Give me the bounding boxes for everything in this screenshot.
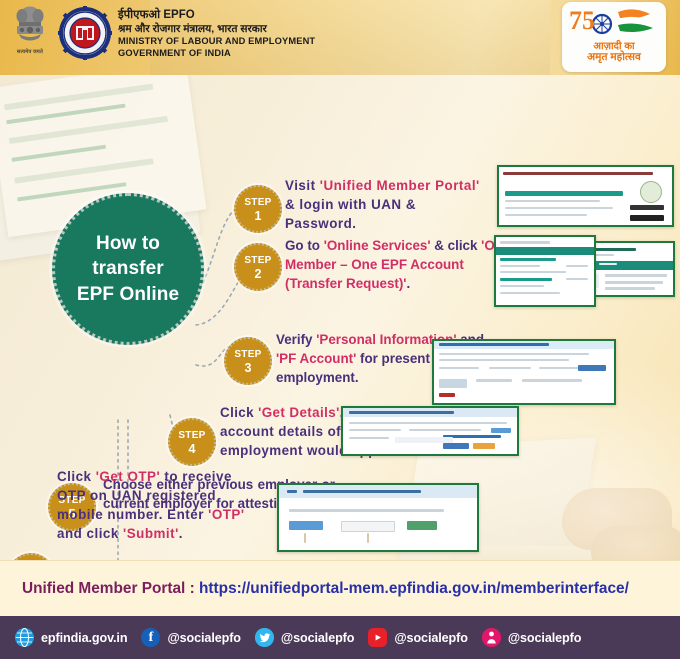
emblem-caption: सत्यमेव जयते [8,49,52,55]
poster-header: सत्यमेव जयते [0,0,680,75]
twitter-icon [255,628,274,647]
footer-label-website: epfindia.gov.in [41,631,127,645]
step-6-part-0: Click [57,469,96,484]
step-1-badge-label: STEP [236,198,280,208]
ministry-hindi: श्रम और रोजगार मंत्रालय, भारत सरकार [118,23,315,36]
step-1-screenshot-thumbnail [497,165,674,227]
step-2-part-4: . [407,276,411,291]
step-6-screenshot-thumbnail [277,483,479,552]
footer-item-koo[interactable]: @socialepfo [482,628,581,647]
step-1-part-0: Visit [285,178,320,193]
portal-url-text: Unified Member Portal : https://unifiedp… [22,580,629,598]
footer-label-twitter: @socialepfo [281,631,354,645]
step-1-part-1: 'Unified Member Portal' [320,178,480,193]
hub-line-2: transfer [92,258,164,279]
step-6-part-1: 'Get OTP' [96,469,160,484]
step-2-text: Go to 'Online Services' & click 'One Mem… [285,236,517,293]
koo-icon [482,628,501,647]
step-6-part-5: 'Submit' [123,526,179,541]
step-3-screenshot-thumbnail [494,235,596,307]
org-name-abbr: EPFO [163,9,194,21]
azadi-ka-amrit-mahotsav-logo: 75 आज़ादी का अमृत महोत्सव [562,2,666,72]
footer-label-koo: @socialepfo [508,631,581,645]
step-4-part-1: 'Get Details' [258,405,340,420]
step-2-part-2: & click [431,238,482,253]
step-2-part-0: Go to [285,238,324,253]
step-2-badge[interactable]: STEP 2 [234,243,282,291]
footer-item-youtube[interactable]: @socialepfo [368,628,467,647]
center-hub-circle: How to transfer EPF Online [52,193,204,345]
amrit-75-number: 75 [569,6,595,36]
step-1-text: Visit 'Unified Member Portal' & login wi… [285,176,485,233]
portal-url-link[interactable]: https://unifiedportal-mem.epfindia.gov.i… [199,580,629,597]
step-6-part-4: and click [57,526,123,541]
org-name-line: ईपीएफओ EPFO [118,8,315,23]
government-of-india: GOVERNMENT OF INDIA [118,48,315,60]
hub-line-1: How to [96,233,160,254]
youtube-icon [368,628,387,647]
step-2-number: 2 [236,268,280,281]
step-6-part-3: 'OTP' [208,507,244,522]
amrit-line-2: अमृत महोत्सव [562,50,666,64]
poster-body: How to transfer EPF Online STEP 1 Visit … [0,75,680,560]
step-2-badge-label: STEP [236,256,280,266]
step-3-badge[interactable]: STEP 3 [224,337,272,385]
step-1-badge[interactable]: STEP 1 [234,185,282,233]
step-4-screenshot-thumbnail [432,339,616,405]
footer-label-facebook: @socialepfo [167,631,240,645]
epfo-logo-icon [58,6,112,60]
infographic-poster: सत्यमेव जयते [0,0,680,659]
social-footer: epfindia.gov.in f @socialepfo @socialepf… [0,616,680,659]
step-1-part-2: & login with UAN & Password. [285,197,416,231]
footer-item-facebook[interactable]: f @socialepfo [141,628,240,647]
step-1-number: 1 [236,210,280,223]
step-3-part-3: 'PF Account' [276,351,356,366]
footer-item-twitter[interactable]: @socialepfo [255,628,354,647]
step-4-badge[interactable]: STEP 4 [168,418,216,466]
portal-url-bar: Unified Member Portal : https://unifiedp… [0,560,680,617]
footer-label-youtube: @socialepfo [394,631,467,645]
hub-line-3: EPF Online [77,284,179,305]
ashoka-lion-capital-icon [13,4,47,48]
facebook-icon: f [141,628,160,647]
globe-icon [15,628,34,647]
step-2-part-1: 'Online Services' [324,238,431,253]
step-6-badge[interactable]: STEP 6 [7,553,55,560]
step-6-text: Click 'Get OTP' to receive OTP on UAN re… [57,467,262,543]
national-emblem: सत्यमेव जयते [8,4,52,70]
footer-item-website[interactable]: epfindia.gov.in [15,628,127,647]
header-text-block: ईपीएफओ EPFO श्रम और रोजगार मंत्रालय, भार… [118,8,315,60]
step-6-part-6: . [179,526,183,541]
org-name-hindi: ईपीएफओ [118,9,160,21]
step-3-part-0: Verify [276,332,316,347]
portal-url-label: Unified Member Portal : [22,580,199,597]
step-4-number: 4 [170,443,214,456]
ministry-english: MINISTRY OF LABOUR AND EMPLOYMENT [118,36,315,48]
step-3-number: 3 [226,362,270,375]
hub-title: How to transfer EPF Online [77,231,179,306]
step-3-badge-label: STEP [226,350,270,360]
step-5-screenshot-thumbnail [341,406,519,456]
step-4-badge-label: STEP [170,431,214,441]
step-4-part-0: Click [220,405,258,420]
